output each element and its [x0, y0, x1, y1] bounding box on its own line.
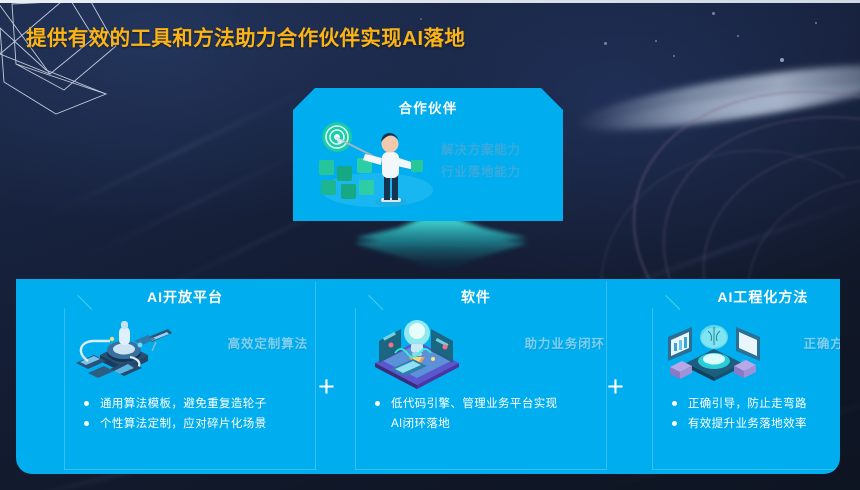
list-item-continuation: AI闭环落地 [357, 415, 601, 434]
bullet-text: 个性算法定制，应对碎片化场景 [100, 415, 310, 434]
road-glow [574, 52, 860, 143]
bullet-dot-icon [84, 401, 89, 406]
bullet-text: 有效提升业务落地效率 [688, 415, 840, 434]
column-ai-engineering-method[interactable]: AI工程化方法 [648, 279, 840, 474]
list-item: 有效提升业务落地效率 [654, 415, 840, 434]
bullet-dot-icon [672, 421, 677, 426]
column-title: AI工程化方法 [648, 287, 840, 307]
column-bullet-list: 正确引导，防止走弯路 有效提升业务落地效率 [648, 395, 840, 433]
bullet-text: 通用算法模板，避免重复造轮子 [100, 395, 310, 414]
partner-card[interactable]: 合作伙伴 [293, 88, 563, 221]
star-dot [737, 35, 739, 37]
software-lightbulb-illustration [361, 311, 471, 389]
polygon-line-decoration [0, 0, 154, 124]
list-item: 正确引导，防止走弯路 [654, 395, 840, 414]
column-software[interactable]: 软件 [351, 279, 601, 474]
star-dot [815, 22, 817, 24]
bullet-dot-icon [375, 401, 380, 406]
column-title: AI开放平台 [60, 287, 310, 307]
column-tag: 正确方法指导 [803, 333, 840, 352]
partner-capability-2: 行业落地能力 [421, 162, 541, 184]
downward-glow-arrow [352, 216, 530, 280]
bullet-dot-icon [84, 421, 89, 426]
partner-capabilities: 解决方案能力 行业落地能力 [421, 140, 541, 183]
star-dot [655, 40, 657, 42]
star-dot [673, 55, 675, 57]
star-dot [604, 42, 607, 45]
page-title: 提供有效的工具和方法助力合作伙伴实现AI落地 [26, 24, 546, 53]
bullet-dot-icon [672, 401, 677, 406]
plus-separator-2: + [607, 373, 624, 402]
road-glow-secondary [598, 77, 860, 133]
column-title: 软件 [351, 287, 601, 307]
partner-capability-1: 解决方案能力 [421, 140, 541, 162]
bullet-text: AI闭环落地 [391, 415, 601, 434]
list-item: 个性算法定制，应对碎片化场景 [66, 415, 310, 434]
column-bullet-list: 通用算法模板，避免重复造轮子 个性算法定制，应对碎片化场景 [60, 395, 310, 433]
column-bullet-list: 低代码引擎、管理业务平台实现 AI闭环落地 [351, 395, 601, 433]
star-dot [420, 18, 422, 20]
bullet-text: 低代码引擎、管理业务平台实现 [391, 395, 601, 414]
slide-canvas: 提供有效的工具和方法助力合作伙伴实现AI落地 合作伙伴 [0, 0, 860, 490]
ai-engineering-brain-illustration [658, 311, 768, 389]
plus-separator-1: + [318, 373, 335, 402]
diagonal-streak [83, 143, 318, 259]
capabilities-panel: AI开放平台 [16, 279, 840, 474]
list-item: 通用算法模板，避免重复造轮子 [66, 395, 310, 414]
list-item: 低代码引擎、管理业务平台实现 [357, 395, 601, 414]
star-dot [712, 12, 715, 15]
column-tag: 助力业务闭环 [525, 333, 605, 352]
column-ai-open-platform[interactable]: AI开放平台 [60, 279, 310, 474]
top-edge-band [0, 0, 860, 3]
bullet-text: 正确引导，防止走弯路 [688, 395, 840, 414]
ai-platform-server-illustration [70, 311, 180, 389]
star-dot [780, 58, 784, 62]
column-tag: 高效定制算法 [228, 333, 308, 352]
